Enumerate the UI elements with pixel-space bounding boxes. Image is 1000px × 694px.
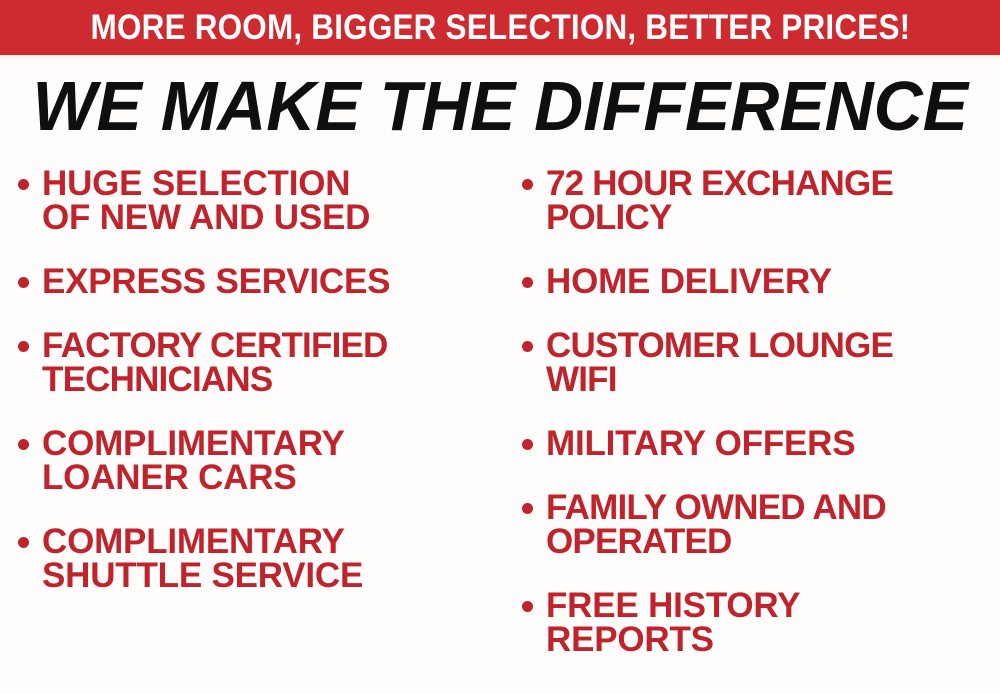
bullet-dot-icon <box>522 601 533 612</box>
promotional-poster: MORE ROOM, BIGGER SELECTION, BETTER PRIC… <box>0 0 1000 694</box>
bullet-dot-icon <box>18 439 29 450</box>
bullet-dot-icon <box>18 537 29 548</box>
bullet-dot-icon <box>522 277 533 288</box>
list-item: COMPLIMENTARY SHUTTLE SERVICE <box>18 525 500 593</box>
list-item-label: MILITARY OFFERS <box>546 427 855 461</box>
bullet-dot-icon <box>522 439 533 450</box>
bullet-dot-icon <box>522 179 533 190</box>
list-item: HOME DELIVERY <box>522 265 1000 299</box>
list-item-label: 72 HOUR EXCHANGE POLICY <box>546 167 893 235</box>
list-item: MILITARY OFFERS <box>522 427 1000 461</box>
list-item: COMPLIMENTARY LOANER CARS <box>18 427 500 495</box>
features-columns: HUGE SELECTION OF NEW AND USED EXPRESS S… <box>0 160 1000 694</box>
list-item-label: FAMILY OWNED AND OPERATED <box>546 491 886 559</box>
page-title: WE MAKE THE DIFFERENCE <box>32 71 968 141</box>
list-item-label: COMPLIMENTARY SHUTTLE SERVICE <box>42 525 363 593</box>
list-item: FAMILY OWNED AND OPERATED <box>522 491 1000 559</box>
list-item: 72 HOUR EXCHANGE POLICY <box>522 167 1000 235</box>
list-item: CUSTOMER LOUNGE WIFI <box>522 329 1000 397</box>
list-item-label: FREE HISTORY REPORTS <box>546 589 800 657</box>
bullet-dot-icon <box>18 277 29 288</box>
top-banner-text: MORE ROOM, BIGGER SELECTION, BETTER PRIC… <box>90 10 910 45</box>
list-item: FREE HISTORY REPORTS <box>522 589 1000 657</box>
list-item-label: HOME DELIVERY <box>546 265 832 299</box>
list-item: FACTORY CERTIFIED TECHNICIANS <box>18 329 500 397</box>
bullet-dot-icon <box>18 341 29 352</box>
list-item-label: COMPLIMENTARY LOANER CARS <box>42 427 345 495</box>
list-item-label: EXPRESS SERVICES <box>42 265 390 299</box>
banner-underline-divider <box>0 55 1000 62</box>
list-item-label: FACTORY CERTIFIED TECHNICIANS <box>42 329 388 397</box>
list-item-label: CUSTOMER LOUNGE WIFI <box>546 329 893 397</box>
bullet-dot-icon <box>522 341 533 352</box>
list-item: EXPRESS SERVICES <box>18 265 500 299</box>
bullet-dot-icon <box>18 179 29 190</box>
bullet-dot-icon <box>522 503 533 514</box>
headline-container: WE MAKE THE DIFFERENCE <box>0 68 1000 144</box>
features-column-right: 72 HOUR EXCHANGE POLICY HOME DELIVERY CU… <box>500 160 1000 657</box>
top-banner: MORE ROOM, BIGGER SELECTION, BETTER PRIC… <box>0 0 1000 55</box>
features-column-left: HUGE SELECTION OF NEW AND USED EXPRESS S… <box>0 160 500 593</box>
list-item-label: HUGE SELECTION OF NEW AND USED <box>42 167 370 235</box>
list-item: HUGE SELECTION OF NEW AND USED <box>18 167 500 235</box>
